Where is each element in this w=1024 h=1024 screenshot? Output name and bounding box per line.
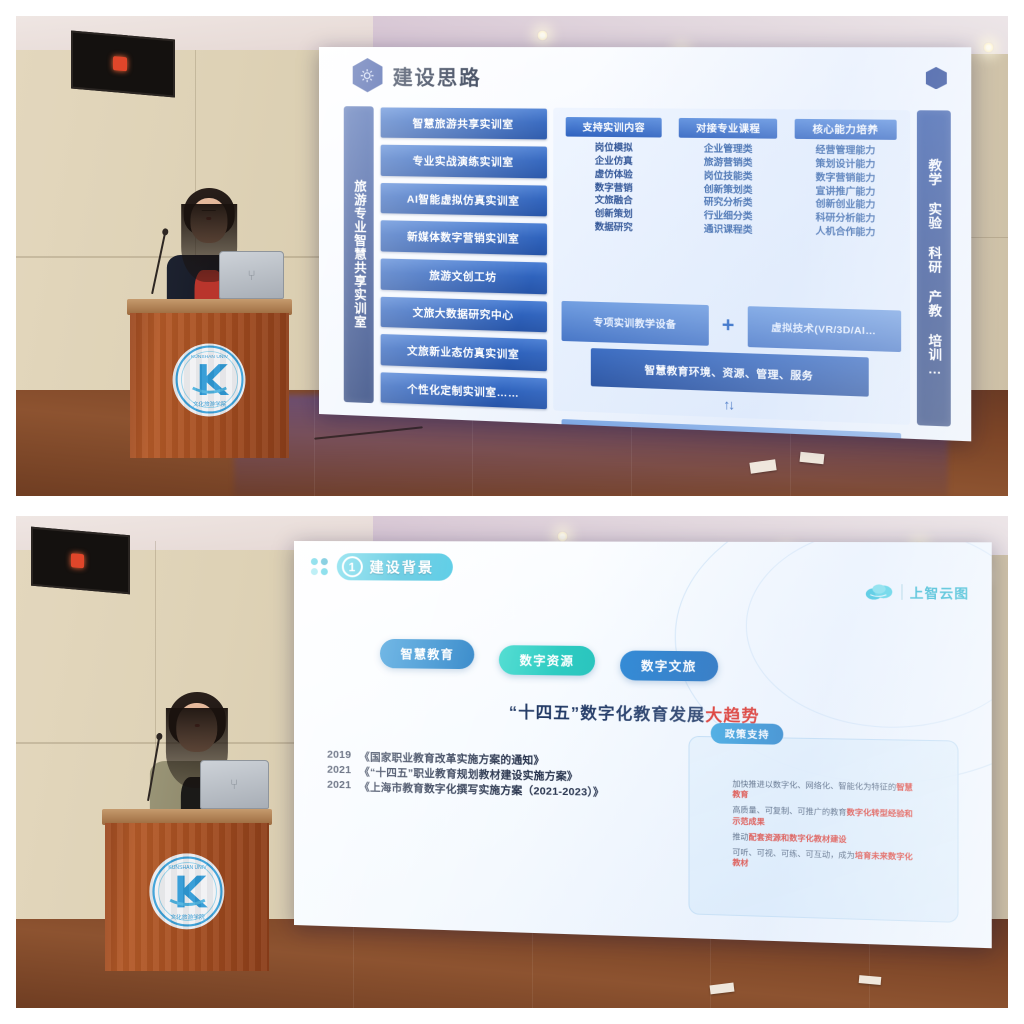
- display-led-icon: [71, 553, 84, 568]
- list-item: 智慧旅游共享实训室: [380, 107, 546, 140]
- laptop-lid: ⑂: [219, 251, 283, 299]
- cloud-icon: [864, 582, 893, 602]
- list-item: 推动配套资源和数字化教材建设: [732, 831, 913, 846]
- image-canvas: 建设思路 旅游专业智慧共享实训室 智慧旅游共享实训室 专业实战演练实训室 AI智…: [0, 0, 1024, 1024]
- three-column-group: 支持实训内容 岗位模拟 企业仿真 虚仿体验 数字营销 文旅融合 创新策划 数据研…: [561, 117, 900, 303]
- topic-pill-digital-resources: 数字资源: [499, 645, 595, 676]
- equipment-left-chip: 专项实训教学设备: [561, 301, 708, 346]
- section-number: 1: [341, 556, 362, 577]
- floor-plank-line: [532, 919, 533, 1008]
- laptop-top: ⑂: [219, 251, 283, 299]
- list-item: 企业管理类: [703, 143, 752, 156]
- headline-highlight: 大趋势: [705, 706, 759, 724]
- equipment-row: 专项实训教学设备 + 虚拟技术(VR/3D/AI…: [561, 301, 900, 352]
- list-item: 宣讲推广能力: [815, 185, 875, 199]
- column-support-content: 支持实训内容 岗位模拟 企业仿真 虚仿体验 数字营销 文旅融合 创新策划 数据研…: [561, 117, 666, 297]
- svg-text:文化旅游学院: 文化旅游学院: [193, 400, 227, 408]
- topic-pill-group: 智慧教育 数字资源 数字文旅: [380, 630, 881, 684]
- list-item: 旅游营销类: [703, 157, 752, 170]
- list-item: 岗位模拟: [594, 142, 632, 155]
- podium-bottom: KUNSHAN UNIV 文化旅游学院: [105, 809, 269, 971]
- projection-screen-slide-1: 建设思路 旅游专业智慧共享实训室 智慧旅游共享实训室 专业实战演练实训室 AI智…: [319, 47, 971, 442]
- stylized-k-icon: KUNSHAN UNIV 文化旅游学院: [174, 345, 244, 415]
- list-item: 人机合作能力: [815, 226, 875, 240]
- list-item: 新媒体数字营销实训室: [380, 221, 546, 256]
- list-item: 经营管理能力: [815, 144, 875, 157]
- policy-year: 2021: [327, 779, 351, 795]
- headline-main: “十四五”数字化教育发展: [509, 703, 705, 724]
- policy-year: 2021: [327, 763, 351, 779]
- training-room-list: 智慧旅游共享实训室 专业实战演练实训室 AI智能虚拟仿真实训室 新媒体数字营销实…: [380, 106, 546, 410]
- list-item: AI智能虚拟仿真实训室: [380, 183, 546, 217]
- list-item: 数字营销能力: [815, 172, 875, 185]
- wall-display: [71, 31, 175, 98]
- list-item: 行业细分类: [703, 210, 752, 223]
- support-text: 高质量、可复制、可推广的教育: [732, 805, 846, 817]
- brand-name: 上智云图: [910, 582, 969, 602]
- support-text: 加快推进以数字化、网络化、智能化为特征的: [732, 779, 896, 792]
- column-items: 经营管理能力 策划设计能力 数字营销能力 宣讲推广能力 创新创业能力 科研分析能…: [815, 144, 875, 239]
- list-item: 研究分析类: [703, 197, 752, 210]
- floor-plank-line: [314, 390, 315, 496]
- equipment-right-chip: 虚拟技术(VR/3D/AI…: [747, 306, 900, 352]
- laptop-logo-icon: ⑂: [230, 776, 238, 792]
- platform-chip: 智慧教育环境、资源、管理、服务: [591, 349, 869, 397]
- list-item: 文旅大数据研究中心: [380, 297, 546, 333]
- slide-1-right-panel: 支持实训内容 岗位模拟 企业仿真 虚仿体验 数字营销 文旅融合 创新策划 数据研…: [553, 108, 909, 426]
- list-item: 高质量、可复制、可推广的教育数字化转型经验和示范成果: [732, 805, 913, 831]
- list-item: 可听、可视、可练、可互动，成为培育未来数字化教材: [732, 847, 913, 873]
- podium-top: KUNSHAN UNIV 文化旅游学院: [130, 299, 289, 457]
- slide-2-header: 1 建设背景: [310, 553, 452, 581]
- ceiling-downlight: [557, 531, 568, 542]
- column-heading: 对接专业课程: [678, 118, 777, 139]
- left-vertical-band: 旅游专业智慧共享实训室: [343, 106, 374, 404]
- support-highlight: 配套资源和数字化教材建设: [748, 832, 846, 844]
- school-emblem: KUNSHAN UNIV 文化旅游学院: [173, 343, 246, 416]
- column-core-abilities: 核心能力培养 经营管理能力 策划设计能力 数字营销能力 宣讲推广能力 创新创业能…: [790, 119, 900, 303]
- section-pill: 1 建设背景: [336, 553, 452, 581]
- slide-1-header: 建设思路: [352, 58, 481, 93]
- support-text: 可听、可视、可练、可互动，成为: [732, 847, 854, 860]
- column-linked-courses: 对接专业课程 企业管理类 旅游营销类 岗位技能类 创新策划类 研究分析类 行业细…: [674, 118, 781, 300]
- topic-pill-digital-tourism: 数字文旅: [620, 650, 718, 681]
- school-emblem: KUNSHAN UNIV 文化旅游学院: [149, 854, 224, 929]
- gear-hexagon-icon: [352, 58, 382, 92]
- list-item: 创新策划类: [703, 184, 752, 197]
- topic-pill-smart-education: 智慧教育: [380, 639, 474, 669]
- list-item: 数据研究: [594, 222, 632, 235]
- photo-bottom: 1 建设背景 上智云图 智慧教育 数字资源: [16, 516, 1008, 1008]
- brand-logo: 上智云图: [864, 582, 969, 603]
- list-item: 文旅新业态仿真实训室: [380, 334, 546, 371]
- plus-icon: +: [716, 315, 740, 337]
- stylized-k-icon: KUNSHAN UNIV 文化旅游学院: [151, 855, 223, 927]
- list-item: 个性化定制实训室……: [380, 372, 546, 409]
- list-item: 文旅融合: [594, 195, 632, 208]
- slide-1-title: 建设思路: [392, 61, 481, 91]
- policy-support-card: 政策支持 加快推进以数字化、网络化、智能化为特征的智慧教育 高质量、可复制、可推…: [689, 735, 958, 922]
- svg-text:文化旅游学院: 文化旅游学院: [170, 913, 205, 921]
- display-led-icon: [113, 57, 127, 72]
- list-item: 创新策划: [594, 208, 632, 221]
- policy-year: 2019: [327, 748, 351, 764]
- list-item: 数字营销: [594, 182, 632, 195]
- support-text: 推动: [732, 831, 748, 841]
- list-item: 加快推进以数字化、网络化、智能化为特征的智慧教育: [732, 779, 913, 804]
- svg-text:KUNSHAN UNIV: KUNSHAN UNIV: [168, 865, 207, 871]
- slide-2-title: 建设背景: [369, 557, 434, 577]
- support-badge: 政策支持: [711, 723, 784, 745]
- list-item: 旅游文创工坊: [380, 259, 546, 294]
- laptop-lid: ⑂: [200, 760, 269, 809]
- column-heading: 支持实训内容: [565, 117, 661, 138]
- laptop-bottom: ⑂: [200, 760, 269, 809]
- list-item: 创新创业能力: [815, 199, 875, 213]
- policy-list: 2019 《国家职业教育改革实施方案的通知》 2021 《“十四五”职业教育规划…: [327, 748, 661, 801]
- list-item: 科研分析能力: [815, 212, 875, 226]
- column-items: 岗位模拟 企业仿真 虚仿体验 数字营销 文旅融合 创新策划 数据研究: [594, 142, 632, 235]
- four-dots-icon: [310, 558, 327, 575]
- column-heading: 核心能力培养: [795, 119, 896, 140]
- floor-paper: [859, 975, 881, 985]
- list-item: 岗位技能类: [703, 170, 752, 183]
- list-item: 专业实战演练实训室: [380, 145, 546, 178]
- podium-body: KUNSHAN UNIV 文化旅游学院: [130, 313, 289, 457]
- support-lines: 加快推进以数字化、网络化、智能化为特征的智慧教育 高质量、可复制、可推广的教育数…: [732, 779, 913, 874]
- list-item: 策划设计能力: [815, 158, 875, 171]
- photo-top: 建设思路 旅游专业智慧共享实训室 智慧旅游共享实训室 专业实战演练实训室 AI智…: [16, 16, 1008, 496]
- projection-screen-slide-2: 1 建设背景 上智云图 智慧教育 数字资源: [294, 541, 991, 948]
- list-item: 通识课程类: [703, 224, 752, 237]
- list-item: 企业仿真: [594, 155, 632, 168]
- floor-plank-line: [353, 919, 354, 1008]
- list-item: 虚仿体验: [594, 169, 632, 182]
- right-vertical-band: 教学 实验 科研 产教 培训…: [916, 110, 950, 427]
- column-items: 企业管理类 旅游营销类 岗位技能类 创新策划类 研究分析类 行业细分类 通识课程…: [703, 143, 752, 237]
- divider: [901, 584, 902, 600]
- podium-body: KUNSHAN UNIV 文化旅游学院: [105, 823, 269, 971]
- laptop-logo-icon: ⑂: [247, 267, 255, 283]
- wall-display: [31, 526, 130, 594]
- slide-1-body: 旅游专业智慧共享实训室 智慧旅游共享实训室 专业实战演练实训室 AI智能虚拟仿真…: [343, 106, 950, 427]
- svg-text:KUNSHAN UNIV: KUNSHAN UNIV: [191, 354, 229, 360]
